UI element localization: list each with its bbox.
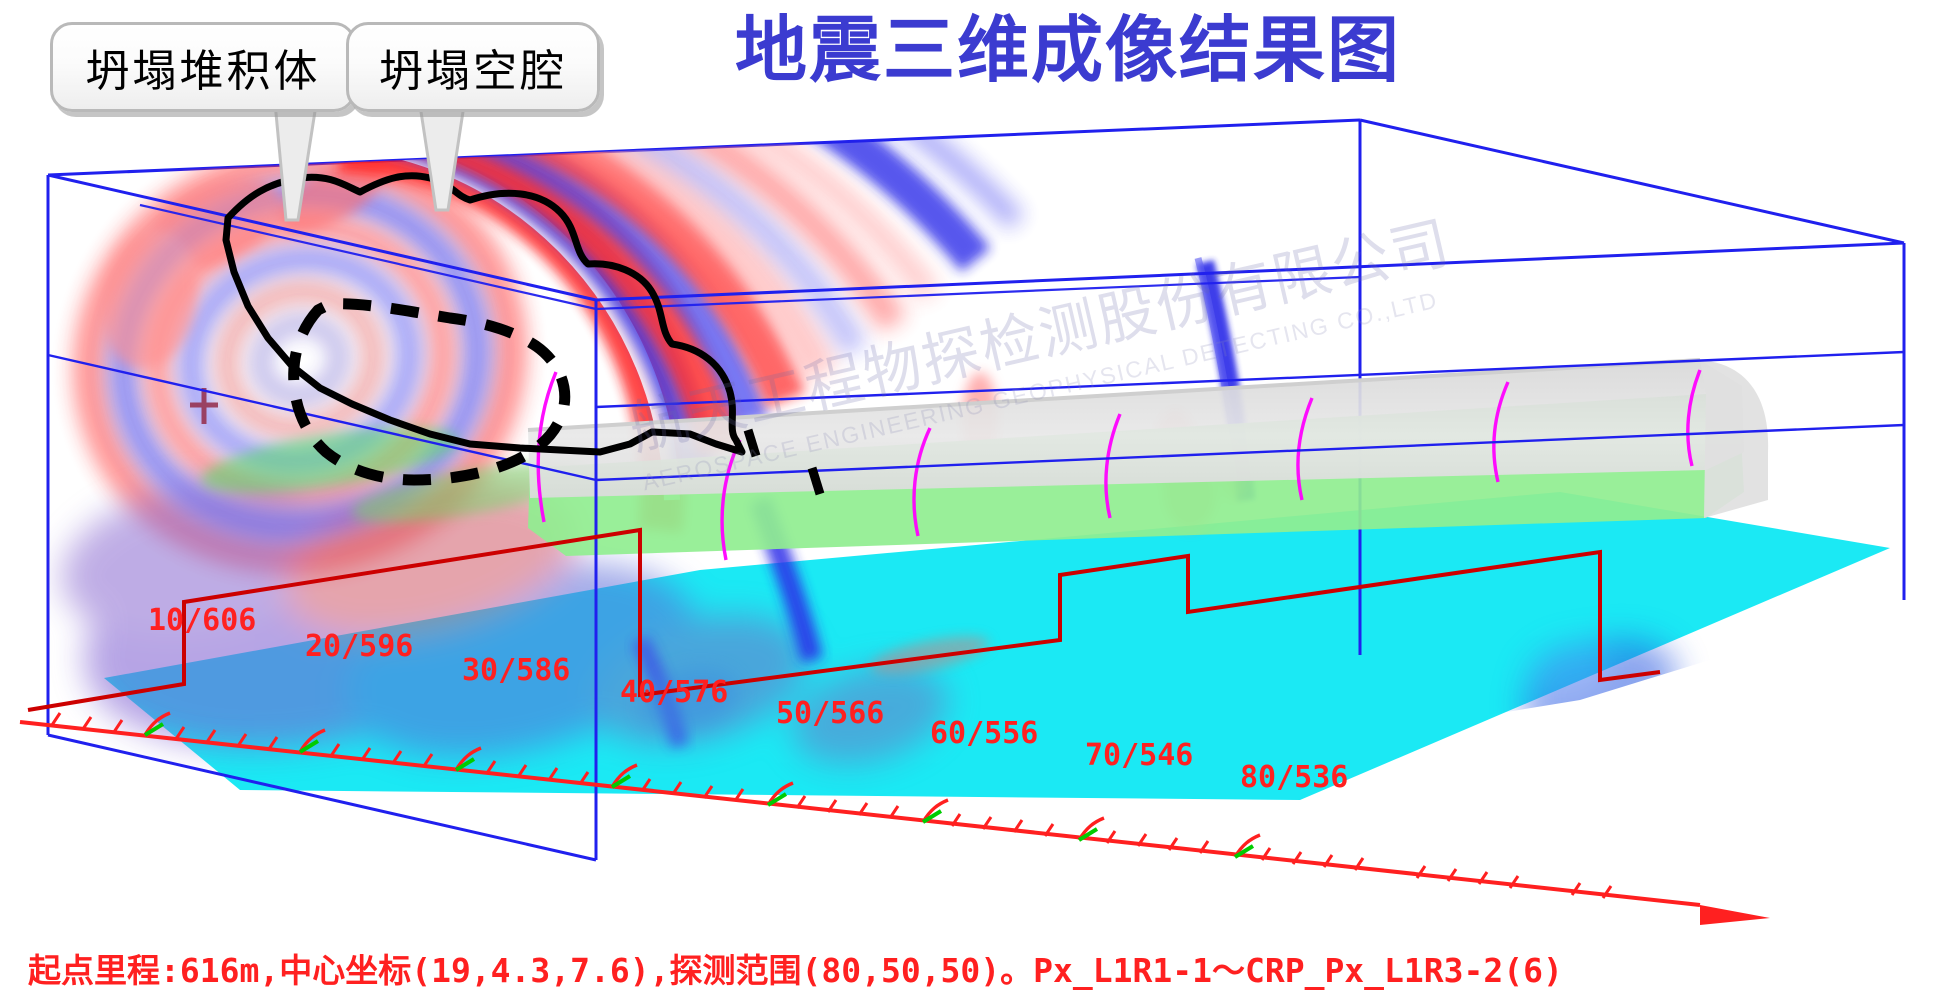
- callout-debris-bubble[interactable]: 坍塌堆积体: [50, 22, 356, 112]
- callout-cavity-label: 坍塌空腔: [379, 35, 567, 99]
- seismic-3d-imaging-figure: 航天工程物探检测股份有限公司 AEROSPACE ENGINEERING GEO…: [0, 0, 1947, 999]
- axis-tick-label-5: 60/556: [930, 716, 1038, 751]
- callout-cavity-bubble[interactable]: 坍塌空腔: [346, 22, 600, 112]
- axis-tick-label-7: 80/536: [1240, 760, 1348, 795]
- axis-tick-label-6: 70/546: [1085, 738, 1193, 773]
- axis-tick-label-3: 40/576: [620, 675, 728, 710]
- axis-tick-label-4: 50/566: [776, 696, 884, 731]
- figure-caption: 起点里程:616m,中心坐标(19,4.3,7.6),探测范围(80,50,50…: [28, 944, 1563, 992]
- callout-collapse-cavity[interactable]: 坍塌空腔: [320, 22, 650, 212]
- axis-tick-label-1: 20/596: [305, 629, 413, 664]
- page-title: 地震三维成像结果图: [735, 14, 1401, 86]
- axis-tick-label-0: 10/606: [148, 603, 256, 638]
- callout-debris-label: 坍塌堆积体: [86, 35, 321, 99]
- axis-tick-label-2: 30/586: [462, 653, 570, 688]
